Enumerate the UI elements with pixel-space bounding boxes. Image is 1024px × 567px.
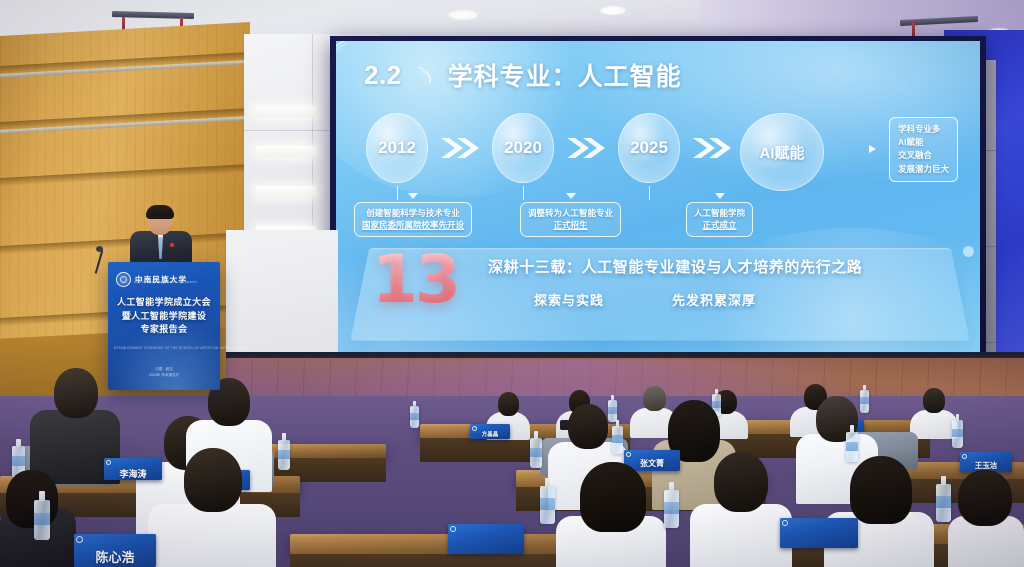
attendee-body	[148, 504, 276, 567]
placard-logo-icon	[626, 452, 631, 457]
timeline-node-2025: 2025	[610, 113, 688, 200]
wall-light-panel	[256, 146, 316, 157]
event-footer-line: 2025年 学术报告厅	[114, 372, 214, 378]
tag-item: 发展潜力巨大	[898, 163, 949, 176]
event-footer-line: 中国 · 武汉	[114, 366, 214, 372]
attendee-body	[690, 504, 792, 567]
water-bottle	[664, 490, 679, 528]
attendee	[948, 470, 1024, 567]
slide-title: 学科专业：人工智能	[448, 57, 682, 93]
slide-subpoint-1: 探索与实践	[534, 290, 604, 309]
name-placard	[448, 524, 524, 554]
caption-line: 正式成立	[694, 219, 745, 231]
attendee-head	[850, 456, 912, 524]
presenter	[128, 205, 196, 267]
presenter-lapel-pin	[170, 243, 174, 247]
caption-pointer	[566, 193, 576, 199]
event-subtitle-en: ESTABLISHMENT CEREMONY OF THE SCHOOL OF …	[114, 346, 214, 350]
timeline-node-outcome: AI赋能	[736, 113, 828, 191]
caption-line: 国家民委所属院校率先开设	[362, 219, 464, 231]
slide-canvas: 2.2 学科专业：人工智能 2012	[336, 41, 980, 353]
caption-line: 调整转为人工智能专业	[528, 207, 613, 219]
year-bubble: 2020	[492, 113, 554, 183]
year-label: 2012	[378, 138, 416, 158]
outcome-bubble: AI赋能	[740, 113, 824, 191]
attendee-head	[184, 448, 242, 512]
attendee	[824, 456, 934, 567]
ceiling-downlight	[600, 6, 626, 15]
water-bottle	[952, 420, 963, 448]
water-bottle	[612, 426, 623, 454]
conference-hall-scene: 2.2 学科专业：人工智能 2012	[0, 0, 1024, 567]
year-bubble: 2012	[366, 113, 428, 183]
water-bottle	[278, 440, 290, 470]
year-label: 2025	[630, 138, 668, 158]
attendee-head	[958, 470, 1012, 526]
tags-pointer-icon	[869, 145, 876, 153]
slide-header: 2.2 学科专业：人工智能	[364, 57, 682, 93]
name-placard: 陈心浩	[74, 534, 156, 567]
wall-light-panel	[256, 186, 316, 197]
slide-section-number: 2.2	[364, 60, 402, 91]
attendee	[148, 448, 276, 567]
timeline-caption-2012: 创建智能科学与技术专业 国家民委所属院校率先开设	[354, 202, 472, 237]
placard-name: 方晶晶	[470, 430, 510, 438]
event-title-line: 专家报告会	[112, 323, 216, 337]
attendee-head	[568, 404, 608, 449]
water-bottle	[410, 406, 419, 428]
event-title-line: 暨人工智能学院建设	[112, 310, 216, 324]
caption-pointer	[408, 193, 418, 199]
water-bottle	[540, 486, 555, 524]
water-bottle	[936, 484, 951, 522]
glasses-icon	[149, 217, 171, 222]
attendee-head	[714, 452, 768, 512]
attendee	[690, 452, 792, 567]
double-chevron-arrow-icon	[562, 113, 610, 183]
placard-logo-icon	[782, 520, 788, 526]
event-footer: 中国 · 武汉 2025年 学术报告厅	[114, 366, 214, 378]
attendee-head	[6, 470, 58, 528]
university-logo: 中南民族大学	[116, 270, 212, 288]
tag-item: 学科专业多	[898, 123, 949, 136]
event-title: 人工智能学院成立大会 暨人工智能学院建设 专家报告会	[112, 296, 216, 337]
wall-light-panel	[256, 106, 316, 117]
slide-subpoint-2: 先发积累深厚	[672, 290, 756, 309]
slide-edge-marker	[963, 246, 974, 257]
caption-line: 正式招生	[528, 219, 613, 231]
stage-front-wall	[226, 230, 338, 360]
slide-tagline: 深耕十三载：人工智能专业建设与人才培养的先行之路	[488, 256, 862, 277]
placard-logo-icon	[962, 454, 967, 459]
water-bottle	[34, 500, 50, 540]
placard-logo-icon	[450, 526, 456, 532]
chevron-right-icon	[412, 62, 438, 88]
tag-item: 交叉融合	[898, 149, 949, 162]
double-chevron-arrow-icon	[436, 113, 484, 183]
attendee-head	[54, 368, 98, 418]
caption-line: 人工智能学院	[694, 207, 745, 219]
podium-banner: 中南民族大学 SOUTH-CENTRAL MINZU UNIVERSITY 人工…	[108, 262, 220, 390]
timeline-node-2020: 2020	[484, 113, 562, 200]
water-bottle	[530, 438, 542, 468]
name-placard: 方晶晶	[470, 424, 510, 439]
university-name-en: SOUTH-CENTRAL MINZU UNIVERSITY	[134, 280, 198, 284]
year-bubble: 2025	[618, 113, 680, 183]
ceiling-downlight	[448, 10, 478, 20]
event-title-line: 人工智能学院成立大会	[112, 296, 216, 310]
highlight-number: 13	[372, 250, 458, 309]
timeline-node-2012: 2012	[358, 113, 436, 200]
attendee-head	[498, 392, 519, 416]
double-chevron-arrow-icon	[688, 113, 736, 183]
university-seal-icon	[116, 272, 131, 287]
placard-logo-icon	[106, 460, 111, 465]
attendee-head	[923, 388, 945, 413]
timeline-caption-2025: 人工智能学院 正式成立	[686, 202, 753, 237]
attendee-body	[910, 410, 958, 439]
attendee-head	[580, 462, 646, 532]
slide-tags-box: 学科专业多 AI赋能 交叉融合 发展潜力巨大	[889, 117, 958, 182]
led-presentation-screen[interactable]: 2.2 学科专业：人工智能 2012	[330, 36, 986, 361]
attendee	[556, 462, 666, 567]
name-placard: 王玉洁	[960, 452, 1012, 472]
placard-logo-icon	[76, 536, 83, 543]
name-placard	[780, 518, 858, 548]
attendee	[910, 388, 958, 436]
timeline-caption-2020: 调整转为人工智能专业 正式招生	[520, 202, 621, 237]
outcome-label: AI赋能	[759, 142, 804, 163]
timeline-captions: 创建智能科学与技术专业 国家民委所属院校率先开设 调整转为人工智能专业 正式招生…	[358, 193, 970, 233]
placard-name: 陈心浩	[74, 547, 156, 566]
caption-line: 创建智能科学与技术专业	[362, 207, 464, 219]
year-label: 2020	[504, 138, 542, 158]
caption-pointer	[715, 193, 725, 199]
tag-item: AI赋能	[898, 136, 949, 149]
rail-stem	[912, 22, 915, 36]
